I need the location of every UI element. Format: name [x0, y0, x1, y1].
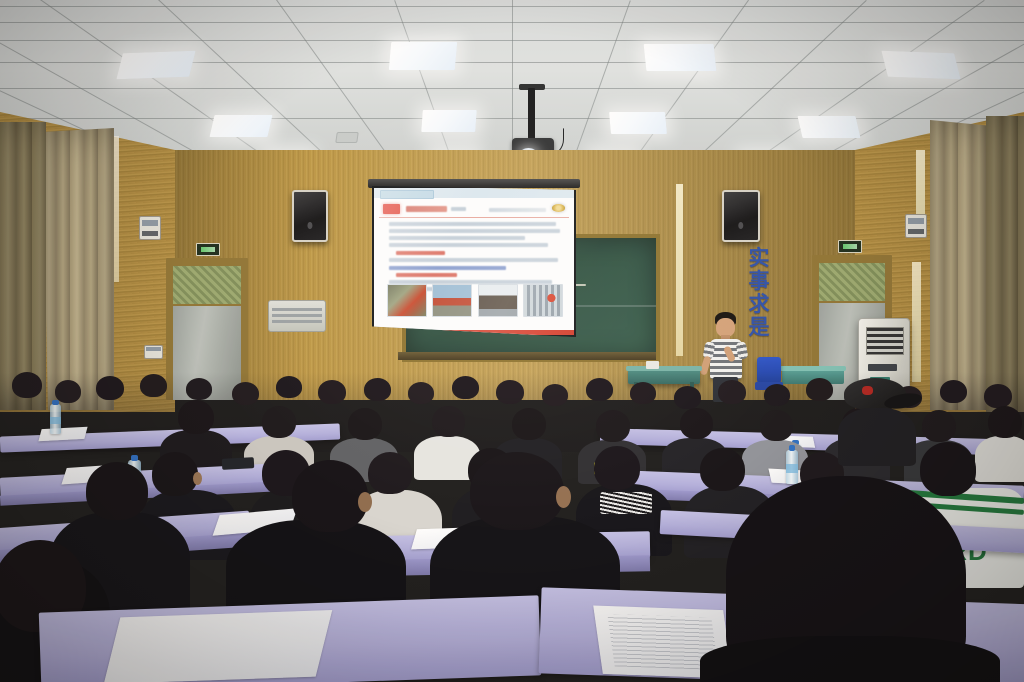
student-head — [86, 462, 148, 520]
student-head — [984, 384, 1012, 408]
student-head — [432, 406, 465, 437]
student-head — [922, 410, 956, 442]
window-light-sliver — [912, 262, 921, 382]
slide-text-line — [389, 222, 556, 226]
student-head — [186, 378, 212, 400]
window-light-sliver — [114, 136, 119, 282]
white-paper-sheet — [104, 610, 332, 682]
beige-blackout-curtain[interactable] — [0, 122, 46, 410]
student-head — [152, 452, 198, 496]
wall-char-2: 事 — [749, 271, 770, 292]
wall-mounted-ac-unit — [268, 300, 326, 332]
student-head — [140, 374, 167, 397]
slide-text-line — [389, 229, 560, 233]
screen-surface — [374, 188, 574, 335]
ac-vent-grill — [866, 327, 904, 355]
student-head — [988, 406, 1022, 438]
ceiling-grid-line — [0, 6, 1024, 7]
slide-thumbnail-image — [478, 284, 518, 317]
slide-text-line — [389, 243, 549, 247]
recessed-fluorescent-panel — [421, 110, 477, 132]
beige-blackout-curtain[interactable] — [42, 128, 114, 410]
student-head — [470, 452, 564, 530]
student-head — [940, 380, 967, 403]
recessed-fluorescent-panel — [116, 51, 195, 79]
slide-title-row — [379, 201, 569, 218]
slide-thumbnail-image — [387, 284, 427, 317]
recessed-fluorescent-panel — [644, 44, 717, 71]
university-crest-icon — [552, 204, 565, 212]
slide-tab-label — [380, 190, 434, 199]
student-head — [178, 400, 214, 434]
student-head — [512, 408, 546, 440]
student-head — [594, 446, 640, 490]
door-left-glass — [173, 266, 241, 304]
door-right-glass — [819, 263, 885, 301]
window-light-sliver — [676, 184, 683, 356]
instructor-table-top — [780, 366, 846, 371]
student-head — [700, 448, 745, 491]
presentation-slide — [374, 188, 574, 335]
slide-title-subtext — [451, 207, 466, 211]
lecture-hall-photograph: 实 事 求 是 — [0, 0, 1024, 682]
desk-item-small-box — [646, 361, 659, 369]
slide-thumbnail-image — [523, 284, 563, 317]
student-head — [760, 410, 793, 441]
beige-blackout-curtain[interactable] — [930, 120, 992, 410]
projector-mount-pole — [528, 88, 535, 140]
student-head — [496, 380, 524, 404]
student-head — [262, 406, 296, 438]
ceiling-grid-line — [0, 118, 1024, 119]
slide-text-line — [389, 236, 526, 240]
student-head — [408, 382, 434, 404]
student-head — [348, 408, 382, 440]
recessed-fluorescent-panel — [881, 51, 960, 79]
cap-logo — [862, 386, 873, 395]
student-ear — [358, 492, 372, 512]
slide-thumbnail-image — [432, 284, 472, 317]
slide-title-text — [406, 206, 448, 213]
student-head — [368, 452, 412, 494]
student-head — [542, 384, 568, 406]
wall-control-panel[interactable] — [905, 214, 927, 238]
student-head — [232, 382, 259, 405]
student-head — [318, 380, 346, 404]
dark-notebook — [222, 457, 255, 470]
student-head — [718, 380, 746, 404]
student-head — [920, 442, 976, 496]
student-head — [96, 376, 124, 400]
student-ear — [556, 486, 571, 508]
chalk-tray — [398, 352, 656, 360]
student-head — [764, 384, 790, 406]
student-head — [452, 376, 479, 399]
ceiling-air-vent — [335, 132, 359, 143]
student-head — [674, 386, 701, 409]
student-head — [12, 372, 42, 398]
slide-content-area — [379, 201, 569, 322]
student-head — [364, 378, 391, 401]
wall-mounted-loudspeaker — [292, 190, 328, 242]
recessed-fluorescent-panel — [797, 116, 860, 138]
recessed-fluorescent-panel — [209, 115, 272, 137]
window-light-sliver — [916, 150, 925, 220]
water-bottle — [50, 404, 61, 434]
pull-down-projection-screen[interactable] — [372, 186, 576, 337]
emergency-exit-sign — [838, 240, 862, 253]
water-bottle — [786, 450, 798, 484]
student-torso — [975, 436, 1024, 482]
slide-text-line — [389, 266, 507, 270]
student-head — [292, 460, 368, 532]
ac-display-panel — [868, 364, 897, 372]
recessed-fluorescent-panel — [389, 42, 457, 70]
student-torso — [838, 408, 916, 466]
student-head — [586, 378, 613, 401]
wall-mounted-loudspeaker — [722, 190, 760, 242]
wall-control-panel[interactable] — [144, 345, 163, 359]
slide-header-right-text — [489, 208, 546, 211]
ceiling-grid-line — [0, 22, 1024, 23]
emergency-exit-sign — [196, 243, 220, 256]
beige-blackout-curtain[interactable] — [986, 116, 1024, 412]
student-ear — [193, 472, 202, 485]
ceiling-grid-line — [0, 88, 1024, 89]
slide-highlight-line — [396, 251, 445, 255]
wall-char-1: 实 — [749, 248, 770, 269]
lecturer-sleeve — [736, 341, 749, 359]
slide-text-line — [389, 258, 558, 262]
student-head — [596, 410, 630, 442]
slide-title-bullet — [383, 204, 400, 214]
student-head — [630, 382, 656, 404]
recessed-fluorescent-panel — [609, 112, 667, 134]
white-paper-sheet — [38, 427, 87, 442]
student-head — [680, 408, 713, 439]
student-head — [806, 378, 833, 401]
slide-highlight-line — [396, 273, 457, 277]
student-head — [55, 380, 81, 403]
student-torso — [700, 636, 1000, 682]
instructor-table-top — [626, 366, 702, 371]
wall-control-panel[interactable] — [139, 216, 161, 240]
ceiling-grid-line — [0, 40, 1024, 41]
tshirt-graphic-print — [600, 492, 652, 514]
student-head — [276, 376, 302, 398]
